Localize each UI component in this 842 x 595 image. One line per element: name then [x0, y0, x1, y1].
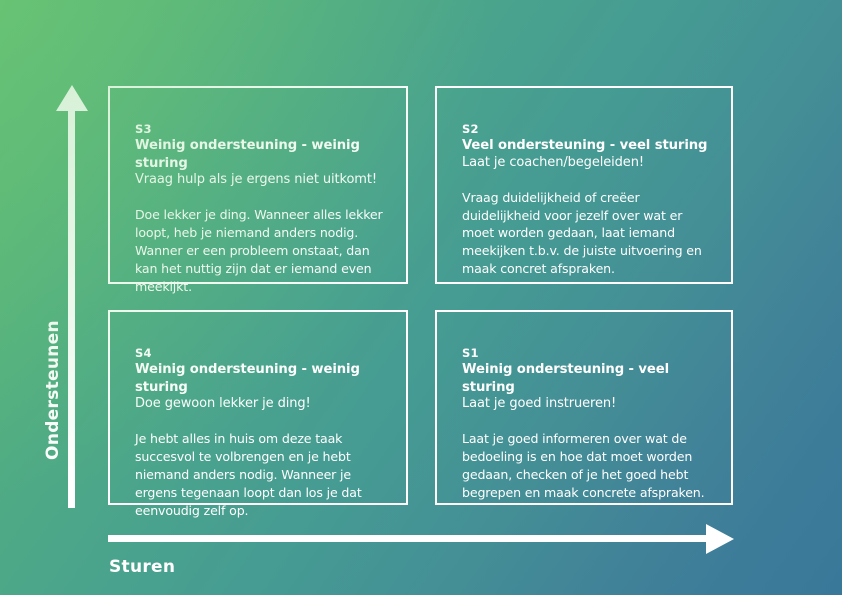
- quadrant-s1-subtitle: Laat je goed instrueren!: [462, 396, 717, 413]
- quadrant-s4-title: Weinig ondersteuning - weinig sturing: [135, 361, 392, 396]
- quadrant-s4[interactable]: S4 Weinig ondersteuning - weinig sturing…: [108, 310, 408, 505]
- x-axis-line: [108, 535, 708, 542]
- quadrant-s1-code: S1: [462, 346, 717, 360]
- quadrant-s4-code: S4: [135, 346, 392, 360]
- quadrant-s3-content: S3 Weinig ondersteuning - weinig sturing…: [135, 122, 392, 295]
- quadrant-s2-body: Vraag duidelijkheid of creëer duidelijkh…: [462, 189, 717, 278]
- quadrant-s4-body: Je hebt alles in huis om deze taak succe…: [135, 430, 387, 519]
- quadrant-s1[interactable]: S1 Weinig ondersteuning - veel sturing L…: [435, 310, 733, 505]
- quadrant-s3-body: Doe lekker je ding. Wanneer alles lekker…: [135, 206, 387, 295]
- quadrant-s1-content: S1 Weinig ondersteuning - veel sturing L…: [462, 346, 717, 502]
- quadrant-s1-body: Laat je goed informeren over wat de bedo…: [462, 430, 717, 502]
- quadrant-s3-code: S3: [135, 122, 392, 136]
- situational-leadership-matrix: Ondersteunen Sturen S3 Weinig ondersteun…: [0, 0, 842, 595]
- quadrant-s2-title: Veel ondersteuning - veel sturing: [462, 137, 717, 154]
- quadrant-s3-subtitle: Vraag hulp als je ergens niet uitkomt!: [135, 172, 392, 189]
- x-axis-label: Sturen: [109, 557, 175, 577]
- quadrant-s1-title: Weinig ondersteuning - veel sturing: [462, 361, 717, 396]
- quadrant-s3-title: Weinig ondersteuning - weinig sturing: [135, 137, 392, 172]
- quadrant-s4-content: S4 Weinig ondersteuning - weinig sturing…: [135, 346, 392, 519]
- y-axis-label: Ondersteunen: [43, 315, 63, 465]
- arrow-right-icon: [706, 524, 734, 554]
- quadrant-s4-subtitle: Doe gewoon lekker je ding!: [135, 396, 392, 413]
- quadrant-s2[interactable]: S2 Veel ondersteuning - veel sturing Laa…: [435, 86, 733, 284]
- quadrant-s2-content: S2 Veel ondersteuning - veel sturing Laa…: [462, 122, 717, 278]
- quadrant-s2-subtitle: Laat je coachen/begeleiden!: [462, 155, 717, 172]
- y-axis-line: [68, 108, 75, 508]
- quadrant-s3[interactable]: S3 Weinig ondersteuning - weinig sturing…: [108, 86, 408, 284]
- quadrant-s2-code: S2: [462, 122, 717, 136]
